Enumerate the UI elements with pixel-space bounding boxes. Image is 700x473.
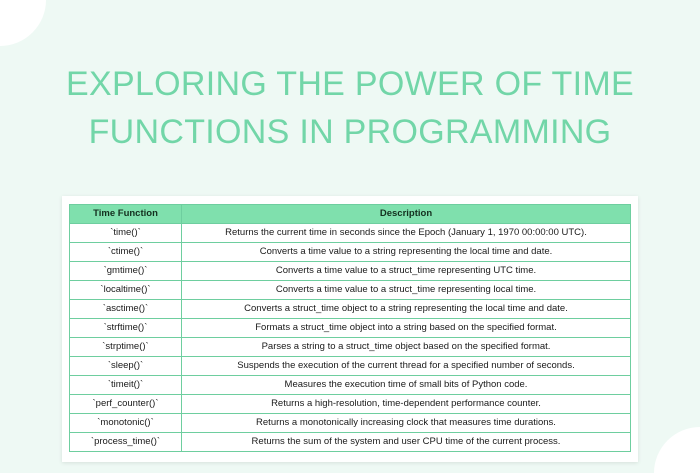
table-row: `gmtime()`Converts a time value to a str… (70, 262, 631, 281)
cell-time-function: `strptime()` (70, 338, 182, 357)
cell-time-function: `strftime()` (70, 319, 182, 338)
cell-time-function: `process_time()` (70, 433, 182, 452)
column-header-time-function: Time Function (70, 205, 182, 224)
cell-description: Formats a struct_time object into a stri… (182, 319, 631, 338)
table-row: `sleep()`Suspends the execution of the c… (70, 357, 631, 376)
cell-description: Measures the execution time of small bit… (182, 376, 631, 395)
table-row: `perf_counter()`Returns a high-resolutio… (70, 395, 631, 414)
time-functions-table: Time Function Description `time()`Return… (69, 204, 631, 452)
table-body: `time()`Returns the current time in seco… (70, 224, 631, 452)
cell-time-function: `localtime()` (70, 281, 182, 300)
cell-time-function: `monotonic()` (70, 414, 182, 433)
decorative-corner-bottom-right (654, 427, 700, 473)
cell-description: Converts a time value to a string repres… (182, 243, 631, 262)
table-row: `asctime()`Converts a struct_time object… (70, 300, 631, 319)
cell-time-function: `perf_counter()` (70, 395, 182, 414)
page-title: EXPLORING THE POWER OF TIME FUNCTIONS IN… (0, 60, 700, 156)
cell-description: Converts a struct_time object to a strin… (182, 300, 631, 319)
table-card: Time Function Description `time()`Return… (62, 196, 638, 462)
table-row: `strptime()`Parses a string to a struct_… (70, 338, 631, 357)
cell-description: Parses a string to a struct_time object … (182, 338, 631, 357)
table-row: `timeit()`Measures the execution time of… (70, 376, 631, 395)
table-row: `monotonic()`Returns a monotonically inc… (70, 414, 631, 433)
table-row: `localtime()`Converts a time value to a … (70, 281, 631, 300)
cell-description: Suspends the execution of the current th… (182, 357, 631, 376)
cell-time-function: `ctime()` (70, 243, 182, 262)
page-canvas: EXPLORING THE POWER OF TIME FUNCTIONS IN… (0, 0, 700, 473)
table-row: `strftime()`Formats a struct_time object… (70, 319, 631, 338)
column-header-description: Description (182, 205, 631, 224)
decorative-corner-top-left (0, 0, 46, 46)
cell-description: Converts a time value to a struct_time r… (182, 262, 631, 281)
cell-description: Returns a monotonically increasing clock… (182, 414, 631, 433)
table-row: `process_time()`Returns the sum of the s… (70, 433, 631, 452)
cell-description: Returns the sum of the system and user C… (182, 433, 631, 452)
cell-description: Converts a time value to a struct_time r… (182, 281, 631, 300)
table-row: `ctime()`Converts a time value to a stri… (70, 243, 631, 262)
cell-time-function: `sleep()` (70, 357, 182, 376)
cell-time-function: `gmtime()` (70, 262, 182, 281)
cell-time-function: `time()` (70, 224, 182, 243)
cell-description: Returns the current time in seconds sinc… (182, 224, 631, 243)
table-row: `time()`Returns the current time in seco… (70, 224, 631, 243)
cell-time-function: `timeit()` (70, 376, 182, 395)
cell-time-function: `asctime()` (70, 300, 182, 319)
cell-description: Returns a high-resolution, time-dependen… (182, 395, 631, 414)
table-header-row: Time Function Description (70, 205, 631, 224)
